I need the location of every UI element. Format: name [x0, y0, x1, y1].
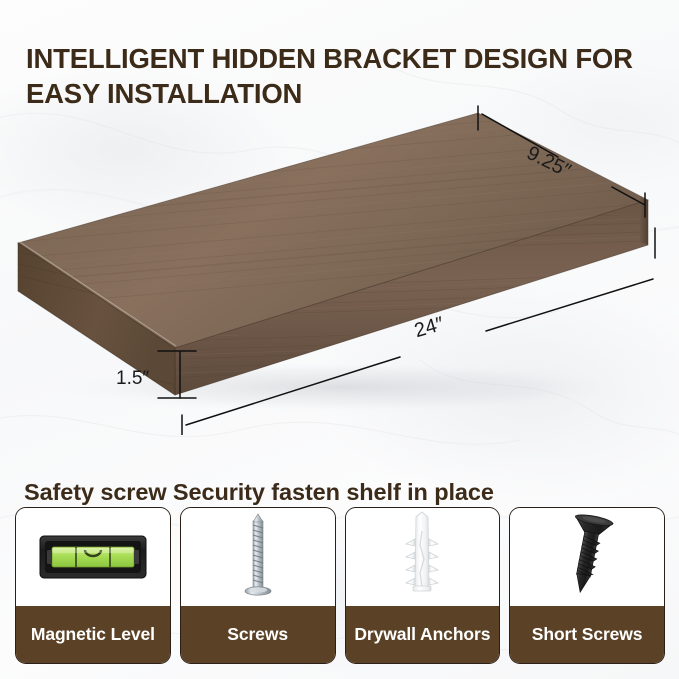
card-label: Magnetic Level — [16, 606, 170, 663]
magnetic-level-icon — [39, 534, 147, 580]
product-infographic: INTELLIGENT HIDDEN BRACKET DESIGN FOR EA… — [0, 0, 679, 679]
card-media — [181, 508, 335, 606]
accessory-card-magnetic-level[interactable]: Magnetic Level — [15, 507, 171, 664]
accessory-card-screws[interactable]: Screws — [180, 507, 336, 664]
shelf-product-illustration — [0, 95, 679, 435]
long-screw-icon — [238, 511, 278, 603]
card-label: Short Screws — [510, 606, 664, 663]
card-media — [346, 508, 500, 606]
accessory-card-drywall-anchors[interactable]: Drywall Anchors — [345, 507, 501, 664]
short-screw-icon — [556, 513, 618, 601]
accessory-card-short-screws[interactable]: Short Screws — [509, 507, 665, 664]
section-subtitle: Safety screw Security fasten shelf in pl… — [24, 479, 494, 506]
accessory-card-list: Magnetic Level — [15, 507, 665, 664]
dimension-label-thickness: 1.5″ — [116, 368, 149, 390]
drywall-anchor-icon — [398, 511, 446, 603]
card-label: Screws — [181, 606, 335, 663]
card-media — [16, 508, 170, 606]
card-media — [510, 508, 664, 606]
card-label: Drywall Anchors — [346, 606, 500, 663]
